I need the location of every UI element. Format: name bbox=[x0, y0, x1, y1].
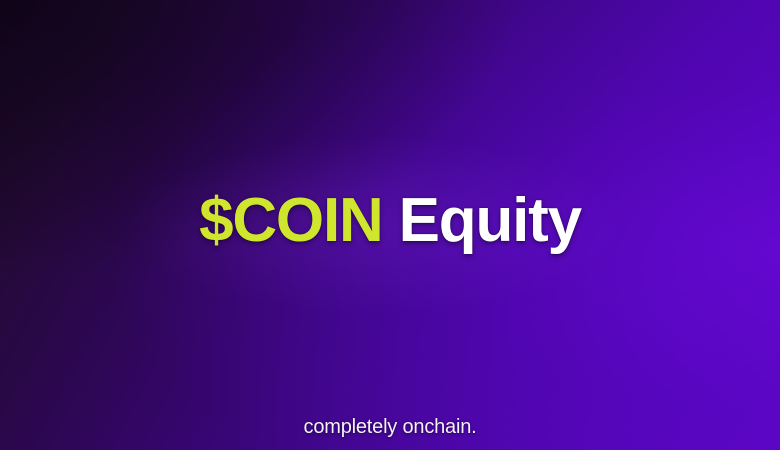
headline: $COINEquity bbox=[0, 190, 780, 252]
subtitle: completely onchain. bbox=[0, 417, 780, 437]
headline-word: Equity bbox=[399, 186, 581, 255]
title-slide: $COINEquity completely onchain. bbox=[0, 0, 780, 450]
slide-stage: $COINEquity completely onchain. bbox=[0, 0, 780, 450]
headline-ticker: $COIN bbox=[199, 186, 382, 255]
